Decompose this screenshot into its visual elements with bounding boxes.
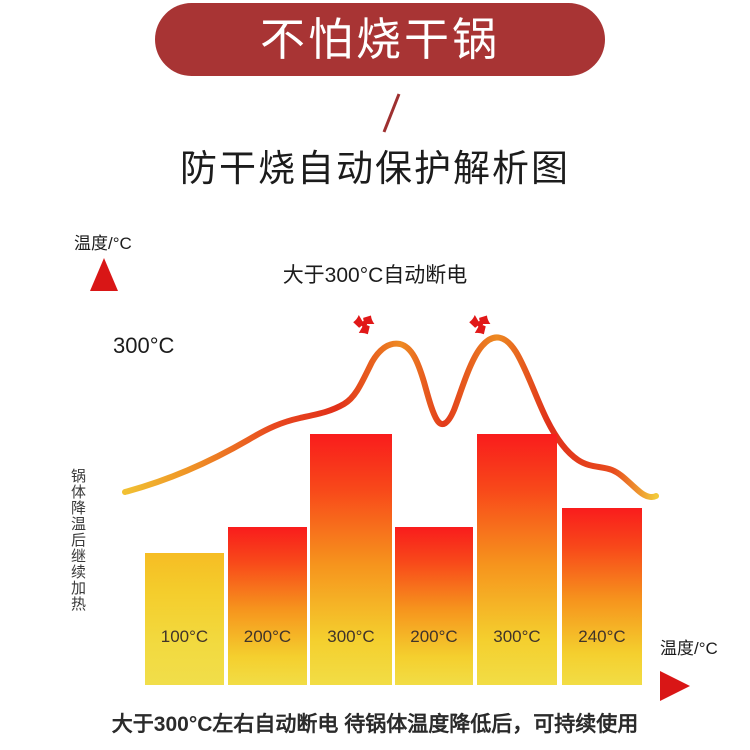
bar-3: 300°C <box>310 434 392 685</box>
bar-label: 200°C <box>228 627 307 647</box>
bar-1: 100°C <box>145 553 224 685</box>
y-axis-label: 温度/°C <box>74 229 132 254</box>
x-axis-arrow-icon <box>660 671 690 701</box>
cutoff-note-label: 大于300°C自动断电 <box>0 259 750 289</box>
bar-label: 240°C <box>562 627 642 647</box>
radiation-icon <box>350 311 378 337</box>
bar-label: 100°C <box>145 627 224 647</box>
bar-6: 240°C <box>562 508 642 685</box>
bar-label: 300°C <box>310 627 392 647</box>
chart-canvas: 温度/°C 温度/°C 300°C 大于300°C自动断电 锅体降温后继续加热 <box>0 0 750 750</box>
bar-label: 300°C <box>477 627 557 647</box>
bar-label: 200°C <box>395 627 473 647</box>
side-note-label: 锅体降温后继续加热 <box>63 468 85 612</box>
threshold-marker-label: 300°C <box>113 333 174 359</box>
bar-4: 200°C <box>395 527 473 685</box>
x-axis-label: 温度/°C <box>660 634 718 659</box>
radiation-icon <box>466 311 494 337</box>
bar-5: 300°C <box>477 434 557 685</box>
bar-2: 200°C <box>228 527 307 685</box>
footer-note: 大于300°C左右自动断电 待锅体温度降低后，可持续使用 <box>0 708 750 738</box>
page-root: 不怕烧干锅 防干烧自动保护解析图 <box>0 0 750 750</box>
